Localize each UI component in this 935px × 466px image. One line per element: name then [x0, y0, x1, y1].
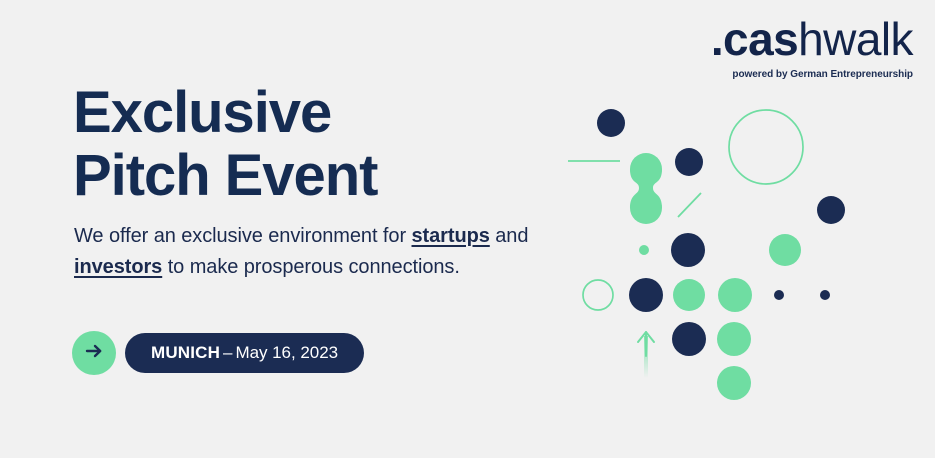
shape-green-ring-large	[729, 110, 803, 184]
shape-green-dot-5	[717, 366, 751, 400]
subtitle-part-2: and	[490, 225, 529, 247]
cta-arrow-button[interactable]	[72, 331, 116, 375]
subtitle-part-1: We offer an exclusive environment for	[74, 225, 412, 247]
logo-wordmark: .cashwalk	[711, 16, 913, 62]
shape-green-dot-1	[769, 234, 801, 266]
shape-green-line-diagonal	[678, 193, 701, 217]
subtitle-emphasis-startups: startups	[412, 225, 490, 247]
shape-navy-dot-3	[817, 196, 845, 224]
shape-green-peanut-group	[630, 153, 662, 224]
shape-navy-dot-6	[672, 322, 706, 356]
arrow-up-icon	[638, 332, 654, 378]
shape-navy-dot-4	[671, 233, 705, 267]
event-city: MUNICH	[151, 343, 220, 363]
arrow-right-icon	[83, 340, 105, 367]
shape-navy-dot-1	[597, 109, 625, 137]
event-location-date-badge[interactable]: MUNICH – May 16, 2023	[125, 333, 364, 373]
headline-line-1: Exclusive	[73, 80, 331, 145]
subtitle: We offer an exclusive environment for st…	[74, 221, 554, 283]
shape-navy-dot-2	[675, 148, 703, 176]
subtitle-emphasis-investors: investors	[74, 256, 162, 278]
bottom-white-strip	[0, 458, 935, 466]
shape-green-dot-small-1	[639, 245, 649, 255]
cta-row: MUNICH – May 16, 2023	[72, 331, 364, 375]
headline-line-2: Pitch Event	[73, 143, 377, 208]
logo-wordmark-light: hwalk	[798, 13, 913, 65]
brand-logo: .cashwalk powered by German Entrepreneur…	[711, 16, 913, 80]
event-separator: –	[220, 343, 235, 363]
event-date: May 16, 2023	[235, 343, 338, 363]
decorative-dot-pattern	[548, 84, 935, 414]
page-title: Exclusive Pitch Event	[73, 82, 377, 207]
subtitle-part-3: to make prosperous connections.	[162, 256, 460, 278]
shape-navy-dot-tiny-1	[774, 290, 784, 300]
shape-green-dot-3	[718, 278, 752, 312]
promo-banner: .cashwalk powered by German Entrepreneur…	[0, 0, 935, 458]
shape-green-dot-4	[717, 322, 751, 356]
shape-green-dot-2	[673, 279, 705, 311]
shape-navy-dot-5	[629, 278, 663, 312]
logo-tagline: powered by German Entrepreneurship	[711, 70, 913, 80]
shape-navy-dot-tiny-2	[820, 290, 830, 300]
shape-green-ring-small	[583, 280, 613, 310]
shape-green-peanut	[631, 154, 661, 184]
logo-wordmark-bold: .cas	[711, 13, 798, 65]
